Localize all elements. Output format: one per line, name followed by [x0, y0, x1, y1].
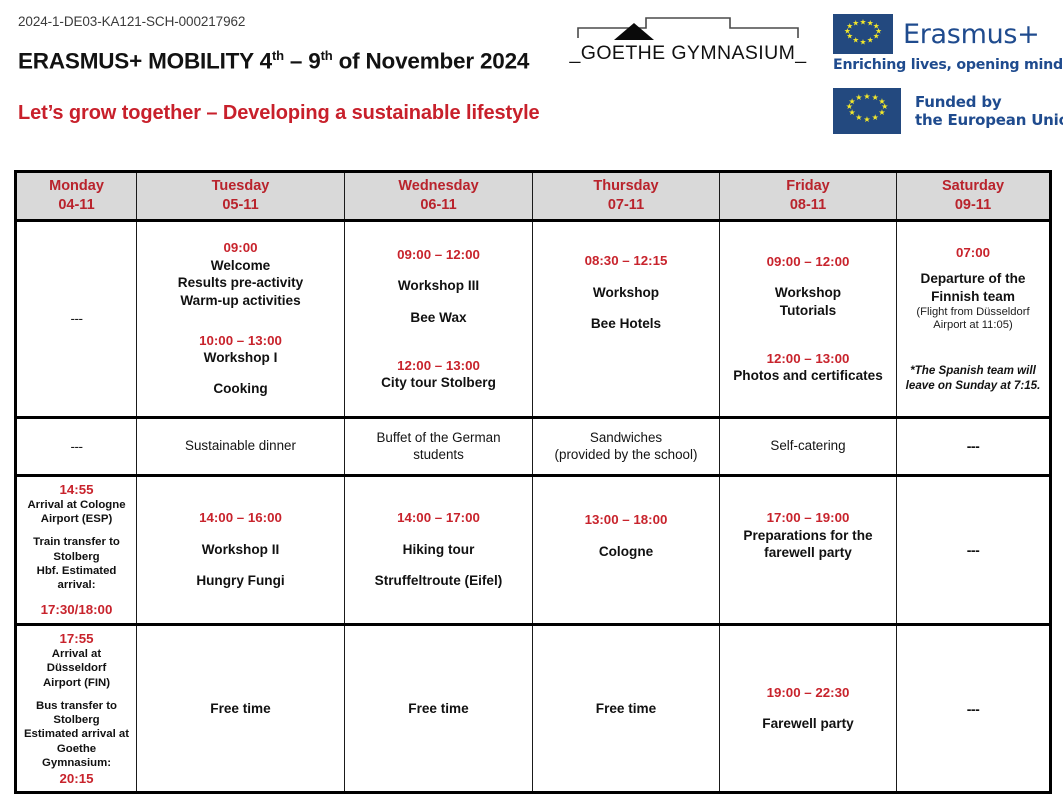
- spacer: [143, 366, 338, 380]
- eu-star: ★: [860, 38, 867, 46]
- activity-time: 09:00 – 12:00: [351, 246, 526, 263]
- day-name: Thursday: [539, 177, 713, 196]
- cell-wednesday-afternoon: 14:00 – 17:00 Hiking tour Struffeltroute…: [345, 475, 533, 624]
- eu-star: ★: [867, 36, 874, 44]
- cell-friday-evening: 19:00 – 22:30 Farewell party: [720, 624, 897, 793]
- activity-name: Warm-up activities: [143, 292, 338, 310]
- goethe-gymnasium-logo: _GOETHE GYMNASIUM_: [568, 14, 808, 70]
- eu-star: ★: [873, 32, 880, 40]
- title-ordinal-1: th: [272, 48, 284, 63]
- erasmus-wordmark: Erasmus+: [903, 21, 1039, 48]
- eu-star: ★: [855, 94, 862, 102]
- eu-star: ★: [852, 36, 859, 44]
- activity-name: Preparations for the: [726, 527, 890, 545]
- spacer: [726, 320, 890, 350]
- project-code: 2024-1-DE03-KA121-SCH-000217962: [18, 14, 245, 29]
- eu-flag-icon: ★ ★ ★ ★ ★ ★ ★ ★ ★ ★ ★ ★: [833, 88, 901, 134]
- spacer: [539, 270, 713, 284]
- day-date: 05-11: [143, 196, 338, 215]
- spacer: [143, 310, 338, 332]
- eu-star: ★: [863, 116, 870, 124]
- eu-star: ★: [852, 19, 859, 27]
- activity-note: Train transfer to Stolberg: [23, 535, 130, 564]
- spacer: [726, 576, 890, 590]
- empty-dash: ---: [23, 439, 130, 454]
- activity-time: 09:00 – 12:00: [726, 253, 890, 270]
- column-header-thursday: Thursday 07-11: [533, 172, 720, 221]
- table-header-row: Monday 04-11 Tuesday 05-11 Wednesday 06-…: [16, 172, 1051, 221]
- day-name: Saturday: [903, 177, 1043, 196]
- page-subtitle: Let’s grow together – Developing a susta…: [18, 102, 540, 125]
- activity-note: Goethe Gymnasium:: [23, 742, 130, 771]
- activity-time: 10:00 – 13:00: [143, 332, 338, 349]
- activity-name: Farewell party: [726, 715, 890, 733]
- activity-time: 07:00: [903, 244, 1043, 261]
- spacer: [726, 270, 890, 284]
- cell-thursday-activities: 08:30 – 12:15 Workshop Bee Hotels: [533, 220, 720, 417]
- goethe-gymnasium-wordmark: _GOETHE GYMNASIUM_: [568, 42, 808, 65]
- activity-name: Workshop: [726, 284, 890, 302]
- cell-saturday-meal: ---: [897, 417, 1051, 475]
- activity-name: Tutorials: [726, 302, 890, 320]
- activity-name: Free time: [539, 701, 713, 716]
- spacer: [23, 526, 130, 535]
- activity-time: 08:30 – 12:15: [539, 252, 713, 269]
- meal-description: Self-catering: [726, 437, 890, 454]
- spacer: [903, 261, 1043, 270]
- day-name: Friday: [726, 177, 890, 196]
- activity-time: 12:00 – 13:00: [726, 350, 890, 367]
- spacer: [539, 529, 713, 543]
- funded-line-1: Funded by: [915, 93, 1063, 111]
- day-name: Wednesday: [351, 177, 526, 196]
- activity-name: Welcome: [143, 257, 338, 275]
- activity-name: Workshop II: [143, 541, 338, 559]
- cell-tuesday-meal: Sustainable dinner: [137, 417, 345, 475]
- empty-dash: ---: [903, 438, 1043, 454]
- cell-wednesday-evening: Free time: [345, 624, 533, 793]
- activity-name: Workshop: [539, 284, 713, 302]
- funded-by-eu-logo: ★ ★ ★ ★ ★ ★ ★ ★ ★ ★ ★ ★ Funded by the Eu…: [833, 88, 1063, 134]
- activity-name: farewell party: [726, 544, 890, 562]
- activity-name: Cooking: [143, 380, 338, 398]
- activity-note: Hbf. Estimated arrival:: [23, 564, 130, 593]
- spacer: [539, 301, 713, 315]
- spacer: [539, 363, 713, 385]
- title-suffix: of November 2024: [333, 49, 530, 74]
- day-date: 04-11: [23, 196, 130, 215]
- column-header-monday: Monday 04-11: [16, 172, 137, 221]
- activity-name: Workshop III: [351, 277, 526, 295]
- activity-footnote: leave on Sunday at 7:15.: [903, 378, 1043, 393]
- spacer: [351, 295, 526, 309]
- schedule-table-wrapper: Monday 04-11 Tuesday 05-11 Wednesday 06-…: [14, 170, 1049, 794]
- empty-dash: ---: [903, 542, 1043, 558]
- activity-name: Free time: [143, 701, 338, 716]
- activity-footnote: *The Spanish team will: [903, 363, 1043, 378]
- activity-time: 20:15: [23, 770, 130, 787]
- cell-friday-afternoon: 17:00 – 19:00 Preparations for the farew…: [720, 475, 897, 624]
- activity-note: Airport (ESP): [23, 512, 130, 526]
- spacer: [143, 527, 338, 541]
- eu-star: ★: [863, 93, 870, 101]
- funded-by-text: Funded by the European Union: [915, 93, 1063, 130]
- spacer: [903, 333, 1043, 363]
- cell-wednesday-activities: 09:00 – 12:00 Workshop III Bee Wax 12:00…: [345, 220, 533, 417]
- meal-description: (provided by the school): [539, 446, 713, 463]
- cell-monday-activities: ---: [16, 220, 137, 417]
- activity-name: Bee Wax: [351, 309, 526, 327]
- activity-note: Arrival at Cologne: [23, 498, 130, 512]
- cell-friday-activities: 09:00 – 12:00 Workshop Tutorials 12:00 –…: [720, 220, 897, 417]
- activity-name: Cologne: [539, 543, 713, 561]
- erasmus-tagline: Enriching lives, opening minds.: [833, 57, 1061, 73]
- activity-time: 14:00 – 16:00: [143, 509, 338, 526]
- spacer: [351, 527, 526, 541]
- title-prefix: ERASMUS+ MOBILITY 4: [18, 49, 272, 74]
- activity-name: Struffeltroute (Eifel): [351, 572, 526, 590]
- activity-note: Estimated arrival at: [23, 727, 130, 741]
- cell-saturday-evening: ---: [897, 624, 1051, 793]
- cell-thursday-evening: Free time: [533, 624, 720, 793]
- eu-star: ★: [872, 114, 879, 122]
- column-header-saturday: Saturday 09-11: [897, 172, 1051, 221]
- cell-saturday-activities: 07:00 Departure of the Finnish team (Fli…: [897, 220, 1051, 417]
- day-date: 09-11: [903, 196, 1043, 215]
- erasmus-plus-logo: ★ ★ ★ ★ ★ ★ ★ ★ ★ ★ ★ ★ Erasmus+ Enrichi…: [833, 14, 1061, 73]
- cell-saturday-afternoon: ---: [897, 475, 1051, 624]
- day-name: Monday: [23, 177, 130, 196]
- activity-time: 13:00 – 18:00: [539, 511, 713, 528]
- cell-monday-afternoon: 14:55 Arrival at Cologne Airport (ESP) T…: [16, 475, 137, 624]
- activity-note: Airport (FIN): [23, 676, 130, 690]
- activity-time: 14:55: [23, 481, 130, 498]
- activity-time: 12:00 – 13:00: [351, 357, 526, 374]
- activity-name: Photos and certificates: [726, 367, 890, 385]
- activity-note: Bus transfer to Stolberg: [23, 699, 130, 728]
- meal-description: students: [351, 446, 526, 463]
- spacer: [726, 562, 890, 576]
- eu-star: ★: [860, 18, 867, 26]
- spacer: [351, 558, 526, 572]
- activity-time: 19:00 – 22:30: [726, 684, 890, 701]
- activity-name: Hiking tour: [351, 541, 526, 559]
- table-row-morning-activities: --- 09:00 Welcome Results pre-activity W…: [16, 220, 1051, 417]
- empty-dash: ---: [23, 310, 130, 328]
- activity-name: Departure of the: [903, 270, 1043, 288]
- activity-name: Results pre-activity: [143, 274, 338, 292]
- spacer: [143, 558, 338, 572]
- activity-name: Free time: [351, 701, 526, 716]
- activity-name: Finnish team: [903, 288, 1043, 306]
- day-date: 06-11: [351, 196, 526, 215]
- spacer: [539, 333, 713, 363]
- activity-name: Workshop I: [143, 349, 338, 367]
- title-middle: – 9: [284, 49, 321, 74]
- column-header-tuesday: Tuesday 05-11: [137, 172, 345, 221]
- day-date: 08-11: [726, 196, 890, 215]
- activity-note: Airport at 11:05): [903, 319, 1043, 333]
- activity-time: 17:55: [23, 630, 130, 647]
- page-title: ERASMUS+ MOBILITY 4th – 9th of November …: [18, 48, 529, 75]
- eu-star: ★: [855, 114, 862, 122]
- cell-friday-meal: Self-catering: [720, 417, 897, 475]
- cell-monday-meal: ---: [16, 417, 137, 475]
- meal-description: Sandwiches: [539, 429, 713, 446]
- day-date: 07-11: [539, 196, 713, 215]
- spacer: [23, 592, 130, 601]
- spacer: [539, 574, 713, 588]
- spacer: [23, 690, 130, 699]
- title-ordinal-2: th: [321, 48, 333, 63]
- cell-monday-evening: 17:55 Arrival at Düsseldorf Airport (FIN…: [16, 624, 137, 793]
- empty-dash: ---: [903, 701, 1043, 717]
- table-row-meals: --- Sustainable dinner Buffet of the Ger…: [16, 417, 1051, 475]
- activity-time: 09:00: [143, 239, 338, 256]
- mobility-schedule-table: Monday 04-11 Tuesday 05-11 Wednesday 06-…: [14, 170, 1052, 794]
- activity-name: Bee Hotels: [539, 315, 713, 333]
- column-header-wednesday: Wednesday 06-11: [345, 172, 533, 221]
- cell-thursday-afternoon: 13:00 – 18:00 Cologne: [533, 475, 720, 624]
- activity-note: Arrival at Düsseldorf: [23, 647, 130, 676]
- activity-name: City tour Stolberg: [351, 374, 526, 392]
- activity-time: 14:00 – 17:00: [351, 509, 526, 526]
- activity-note: (Flight from Düsseldorf: [903, 306, 1043, 320]
- cell-tuesday-activities: 09:00 Welcome Results pre-activity Warm-…: [137, 220, 345, 417]
- eu-flag-icon: ★ ★ ★ ★ ★ ★ ★ ★ ★ ★ ★ ★: [833, 14, 893, 54]
- day-name: Tuesday: [143, 177, 338, 196]
- activity-time: 17:30/18:00: [23, 601, 130, 618]
- table-row-afternoon: 14:55 Arrival at Cologne Airport (ESP) T…: [16, 475, 1051, 624]
- table-row-evening: 17:55 Arrival at Düsseldorf Airport (FIN…: [16, 624, 1051, 793]
- cell-thursday-meal: Sandwiches (provided by the school): [533, 417, 720, 475]
- spacer: [726, 701, 890, 715]
- cell-tuesday-evening: Free time: [137, 624, 345, 793]
- spacer: [351, 263, 526, 277]
- spacer: [351, 327, 526, 357]
- spacer: [539, 560, 713, 574]
- eu-star: ★: [878, 109, 885, 117]
- activity-time: 17:00 – 19:00: [726, 509, 890, 526]
- cell-tuesday-afternoon: 14:00 – 16:00 Workshop II Hungry Fungi: [137, 475, 345, 624]
- cell-wednesday-meal: Buffet of the German students: [345, 417, 533, 475]
- activity-name: Hungry Fungi: [143, 572, 338, 590]
- column-header-friday: Friday 08-11: [720, 172, 897, 221]
- meal-description: Sustainable dinner: [143, 437, 338, 454]
- meal-description: Buffet of the German: [351, 429, 526, 446]
- document-header: 2024-1-DE03-KA121-SCH-000217962 ERASMUS+…: [0, 0, 1063, 152]
- funded-line-2: the European Union: [915, 111, 1063, 129]
